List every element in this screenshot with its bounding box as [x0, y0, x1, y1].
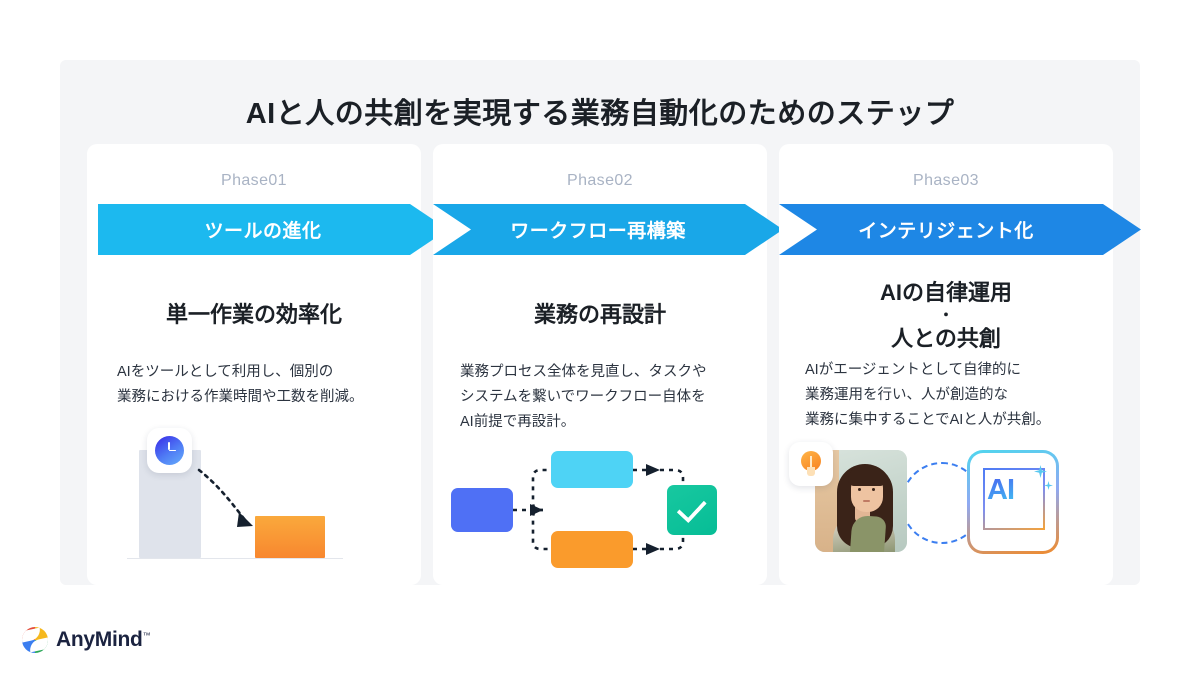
phase-label-2: Phase02 — [433, 172, 767, 190]
phase-banner-label-2: ワークフロー再構築 — [510, 216, 686, 243]
card-body-2: 業務プロセス全体を見直し、タスクや システムを繋いでワークフロー自体を AI前提… — [460, 360, 750, 435]
phase-label-1: Phase01 — [87, 172, 421, 190]
phase-banner-label-1: ツールの進化 — [204, 216, 321, 243]
card-heading-1: 単一作業の効率化 — [87, 300, 421, 329]
phase-cards-row: Phase01 ツールの進化 単一作業の効率化 AIをツールとして利用し、個別の… — [87, 144, 1113, 585]
ai-icon-card: AI — [967, 450, 1059, 554]
anymind-wordmark: AnyMind — [56, 628, 143, 651]
card-heading-2: 業務の再設計 — [433, 300, 767, 329]
check-icon — [676, 493, 706, 524]
phase-banner-3: インテリジェント化 — [779, 204, 1141, 255]
sparkle-icon-small — [1044, 481, 1053, 490]
card-body-3: AIがエージェントとして自律的に 業務運用を行い、人が創造的な 業務に集中するこ… — [805, 358, 1101, 433]
workflow-node-task-a — [551, 451, 633, 488]
card-heading-3: AIの自律運用 ・ 人との共創 — [779, 278, 1113, 353]
bar-after — [255, 516, 325, 558]
anymind-logo-mark-icon — [22, 627, 48, 653]
illustration-workflow — [451, 444, 751, 569]
phase-card-2[interactable]: Phase02 ワークフロー再構築 業務の再設計 業務プロセス全体を見直し、タス… — [433, 144, 767, 585]
trademark-symbol: ™ — [143, 631, 151, 640]
card-heading-3-line1: AIの自律運用 — [880, 280, 1012, 305]
anymind-logo-text: AnyMind™ — [56, 628, 150, 652]
page-title: AIと人の共創を実現する業務自動化のためのステップ — [60, 90, 1140, 132]
card-heading-3-separator: ・ — [779, 309, 1113, 323]
clock-icon — [147, 428, 192, 473]
phase-banner-2: ワークフロー再構築 — [433, 204, 783, 255]
workflow-node-input — [451, 488, 513, 532]
lightbulb-icon — [789, 442, 833, 486]
phase-banner-1: ツールの進化 — [98, 204, 448, 255]
workflow-node-task-b — [551, 531, 633, 568]
phase-banner-label-3: インテリジェント化 — [858, 216, 1034, 243]
ai-icon-label: AI — [987, 476, 1014, 505]
phase-card-1[interactable]: Phase01 ツールの進化 単一作業の効率化 AIをツールとして利用し、個別の… — [87, 144, 421, 585]
illustration-bar-chart — [127, 428, 385, 568]
phase-card-3[interactable]: Phase03 インテリジェント化 AIの自律運用 ・ 人との共創 AIがエージ… — [779, 144, 1113, 585]
phase-label-3: Phase03 — [779, 172, 1113, 190]
anymind-logo: AnyMind™ — [22, 627, 150, 653]
workflow-node-complete — [667, 485, 717, 535]
slide-root: AIと人の共創を実現する業務自動化のためのステップ Phase01 ツールの進化… — [0, 0, 1200, 675]
card-heading-3-line2: 人との共創 — [891, 326, 1001, 351]
illustration-human-ai: AI — [789, 442, 1101, 570]
card-body-1: AIをツールとして利用し、個別の 業務における作業時間や工数を削減。 — [117, 360, 397, 410]
